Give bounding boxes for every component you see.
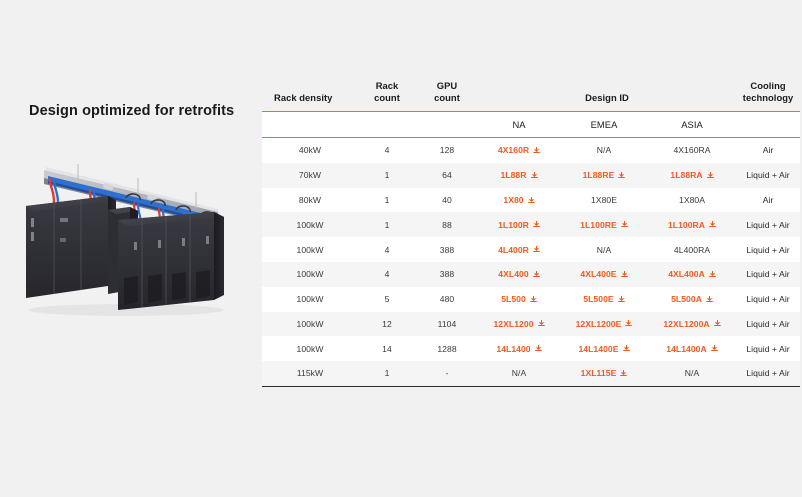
cell-design-id-asia: 14L1400A <box>648 336 736 361</box>
page-root: Design optimized for retrofits <box>0 0 802 497</box>
cell-rack-density: 115kW <box>262 361 358 386</box>
design-id-text: 12XL1200A <box>663 319 709 329</box>
cell-cooling-technology: Liquid + Air <box>736 212 800 237</box>
cell-design-id-na: N/A <box>478 361 560 386</box>
download-icon <box>621 271 628 278</box>
design-id-text: 4XL400 <box>498 269 528 279</box>
cell-design-id-asia: 4XL400A <box>648 262 736 287</box>
cell-design-id-asia: 1L100RA <box>648 212 736 237</box>
design-id-value-asia: N/A <box>685 368 699 378</box>
design-id-value-emea: N/A <box>597 145 611 155</box>
download-icon <box>530 296 537 303</box>
cell-design-id-asia: 5L500A <box>648 287 736 312</box>
cell-rack-count: 4 <box>358 138 416 163</box>
design-id-link-na[interactable]: 1L88R <box>500 170 537 180</box>
cell-gpu-count: 64 <box>416 163 478 188</box>
cell-design-id-na: 5L500 <box>478 287 560 312</box>
column-header-cooling-technology: Cooling technology <box>736 80 800 112</box>
cell-gpu-count: 1104 <box>416 312 478 337</box>
design-id-link-na[interactable]: 4X160R <box>498 145 540 155</box>
design-id-text: 4XL400A <box>668 269 705 279</box>
column-header-gpu-count: GPU count <box>416 80 478 112</box>
design-id-value-na: N/A <box>512 368 526 378</box>
rack-block-left <box>26 196 116 298</box>
design-id-text: 4L400R <box>498 245 529 255</box>
design-id-text: 4XL400E <box>580 269 616 279</box>
download-icon <box>709 221 716 228</box>
cell-design-id-emea: 1L100RE <box>560 212 648 237</box>
cell-rack-density: 80kW <box>262 188 358 213</box>
table-head: Rack density Rack count GPU count Design… <box>262 80 800 138</box>
design-id-link-asia[interactable]: 4XL400A <box>668 269 716 279</box>
download-icon <box>533 147 540 154</box>
cell-design-id-emea: 1XL115E <box>560 361 648 386</box>
table-row: 100kW43884XL4004XL400E4XL400ALiquid + Ai… <box>262 262 800 287</box>
cell-cooling-technology: Liquid + Air <box>736 287 800 312</box>
design-id-value-emea: N/A <box>597 245 611 255</box>
cell-design-id-emea: 12XL1200E <box>560 312 648 337</box>
cell-rack-density: 40kW <box>262 138 358 163</box>
cell-gpu-count: 480 <box>416 287 478 312</box>
cell-design-id-emea: N/A <box>560 237 648 262</box>
cell-design-id-emea: 1L88RE <box>560 163 648 188</box>
download-icon <box>618 296 625 303</box>
cell-rack-density: 100kW <box>262 312 358 337</box>
table-row: 40kW41284X160RN/A4X160RAAir <box>262 138 800 163</box>
rack-block-right <box>118 212 224 310</box>
cell-gpu-count: 388 <box>416 262 478 287</box>
cell-rack-count: 1 <box>358 361 416 386</box>
design-id-link-na[interactable]: 12XL1200 <box>493 319 544 329</box>
cell-design-id-asia: 4X160RA <box>648 138 736 163</box>
cell-design-id-asia: 1L88RA <box>648 163 736 188</box>
download-icon <box>711 345 718 352</box>
download-icon <box>623 345 630 352</box>
design-id-link-asia[interactable]: 14L1400A <box>666 344 718 354</box>
cell-rack-count: 1 <box>358 212 416 237</box>
region-blank-4 <box>736 112 800 138</box>
cell-cooling-technology: Air <box>736 138 800 163</box>
design-id-text: 12XL1200 <box>493 319 533 329</box>
cell-rack-count: 5 <box>358 287 416 312</box>
download-icon <box>620 370 627 377</box>
design-id-value-asia: 4L400RA <box>674 245 710 255</box>
cell-design-id-na: 4L400R <box>478 237 560 262</box>
region-header-na: NA <box>478 112 560 138</box>
cell-gpu-count: 1288 <box>416 336 478 361</box>
design-id-link-na[interactable]: 4L400R <box>498 245 540 255</box>
table-row: 115kW1-N/A1XL115EN/ALiquid + Air <box>262 361 800 386</box>
design-id-value-emea: 1X80E <box>591 195 617 205</box>
design-id-text: 1XL115E <box>581 368 617 378</box>
cell-rack-count: 1 <box>358 188 416 213</box>
download-icon <box>538 320 545 327</box>
cell-design-id-na: 4XL400 <box>478 262 560 287</box>
table-row: 70kW1641L88R1L88RE1L88RALiquid + Air <box>262 163 800 188</box>
design-id-text: 1L88R <box>500 170 526 180</box>
design-id-text: 1L100R <box>498 220 529 230</box>
design-spec-table: Rack density Rack count GPU count Design… <box>262 80 800 387</box>
region-header-emea: EMEA <box>560 112 648 138</box>
cell-rack-count: 12 <box>358 312 416 337</box>
design-id-value-asia: 1X80A <box>679 195 705 205</box>
table-row: 100kW54805L5005L500E5L500ALiquid + Air <box>262 287 800 312</box>
table-body: 40kW41284X160RN/A4X160RAAir70kW1641L88R1… <box>262 138 800 387</box>
design-id-link-emea[interactable]: 4XL400E <box>580 269 627 279</box>
cell-gpu-count: 40 <box>416 188 478 213</box>
cell-design-id-na: 1L100R <box>478 212 560 237</box>
design-id-link-emea[interactable]: 1L88RE <box>583 170 626 180</box>
cell-design-id-asia: 1X80A <box>648 188 736 213</box>
download-icon <box>707 172 714 179</box>
cell-cooling-technology: Liquid + Air <box>736 237 800 262</box>
design-id-link-na[interactable]: 5L500 <box>501 294 537 304</box>
design-id-text: 1L88RE <box>583 170 615 180</box>
gpu-count-line2: count <box>434 92 460 103</box>
cell-design-id-na: 1X80 <box>478 188 560 213</box>
download-icon <box>533 271 540 278</box>
design-id-link-na[interactable]: 14L1400 <box>496 344 541 354</box>
design-id-text: 14L1400 <box>496 344 530 354</box>
datacenter-rack-illustration <box>18 150 250 320</box>
download-icon <box>714 320 721 327</box>
cell-rack-density: 100kW <box>262 336 358 361</box>
cell-gpu-count: 388 <box>416 237 478 262</box>
download-icon <box>625 320 632 327</box>
cell-rack-density: 100kW <box>262 287 358 312</box>
design-id-link-asia[interactable]: 1L88RA <box>670 170 713 180</box>
cell-design-id-emea: N/A <box>560 138 648 163</box>
page-title: Design optimized for retrofits <box>29 103 234 119</box>
design-id-text: 14L1400A <box>666 344 707 354</box>
design-id-text: 5L500 <box>501 294 526 304</box>
cell-design-id-na: 14L1400 <box>478 336 560 361</box>
cell-gpu-count: - <box>416 361 478 386</box>
download-icon <box>533 221 540 228</box>
cell-design-id-emea: 14L1400E <box>560 336 648 361</box>
cell-design-id-asia: 4L400RA <box>648 237 736 262</box>
cell-cooling-technology: Liquid + Air <box>736 163 800 188</box>
design-id-text: 12XL1200E <box>576 319 622 329</box>
header-row-main: Rack density Rack count GPU count Design… <box>262 80 800 112</box>
design-id-text: 1L100RA <box>668 220 705 230</box>
table-row: 100kW43884L400RN/A4L400RALiquid + Air <box>262 237 800 262</box>
region-blank-3 <box>416 112 478 138</box>
cell-rack-count: 4 <box>358 262 416 287</box>
design-id-link-emea[interactable]: 5L500E <box>583 294 624 304</box>
design-id-link-emea[interactable]: 1XL115E <box>581 368 628 378</box>
design-id-text: 1L88RA <box>670 170 702 180</box>
cell-cooling-technology: Liquid + Air <box>736 361 800 386</box>
design-id-link-emea[interactable]: 1L100RE <box>580 220 628 230</box>
cell-cooling-technology: Air <box>736 188 800 213</box>
cell-cooling-technology: Liquid + Air <box>736 262 800 287</box>
cell-design-id-asia: N/A <box>648 361 736 386</box>
cell-design-id-emea: 4XL400E <box>560 262 648 287</box>
region-blank-1 <box>262 112 358 138</box>
design-id-link-emea[interactable]: 12XL1200E <box>576 319 633 329</box>
design-id-link-asia[interactable]: 12XL1200A <box>663 319 720 329</box>
column-header-design-id: Design ID <box>478 80 736 112</box>
cell-rack-count: 4 <box>358 237 416 262</box>
design-id-link-na[interactable]: 1X80 <box>503 195 534 205</box>
gpu-count-line1: GPU <box>437 80 457 91</box>
design-id-text: 4X160R <box>498 145 529 155</box>
download-icon <box>535 345 542 352</box>
cell-rack-density: 70kW <box>262 163 358 188</box>
cooling-line2: technology <box>743 92 794 103</box>
table-row: 100kW14128814L140014L1400E14L1400ALiquid… <box>262 336 800 361</box>
left-panel: Design optimized for retrofits <box>0 0 258 497</box>
design-id-link-na[interactable]: 4XL400 <box>498 269 539 279</box>
design-id-text: 1X80 <box>503 195 523 205</box>
cell-rack-density: 100kW <box>262 237 358 262</box>
download-icon <box>618 172 625 179</box>
header-row-regions: NA EMEA ASIA <box>262 112 800 138</box>
cell-rack-density: 100kW <box>262 212 358 237</box>
cell-gpu-count: 128 <box>416 138 478 163</box>
cell-rack-density: 100kW <box>262 262 358 287</box>
design-id-link-na[interactable]: 1L100R <box>498 220 540 230</box>
design-id-link-emea[interactable]: 14L1400E <box>578 344 629 354</box>
cell-design-id-na: 4X160R <box>478 138 560 163</box>
download-icon <box>709 271 716 278</box>
design-id-text: 1L100RE <box>580 220 617 230</box>
cell-design-id-na: 12XL1200 <box>478 312 560 337</box>
cooling-line1: Cooling <box>750 80 785 91</box>
design-id-text: 5L500A <box>671 294 702 304</box>
cell-cooling-technology: Liquid + Air <box>736 336 800 361</box>
design-id-text: 14L1400E <box>578 344 618 354</box>
download-icon <box>531 172 538 179</box>
download-icon <box>621 221 628 228</box>
column-header-rack-density: Rack density <box>262 80 358 112</box>
cell-design-id-emea: 1X80E <box>560 188 648 213</box>
rack-count-line2: count <box>374 92 400 103</box>
download-icon <box>528 197 535 204</box>
table-row: 80kW1401X801X80E1X80AAir <box>262 188 800 213</box>
cell-rack-count: 14 <box>358 336 416 361</box>
design-id-value-asia: 4X160RA <box>673 145 710 155</box>
cell-gpu-count: 88 <box>416 212 478 237</box>
region-blank-2 <box>358 112 416 138</box>
download-icon <box>706 296 713 303</box>
design-id-link-asia[interactable]: 1L100RA <box>668 220 716 230</box>
rack-count-line1: Rack <box>376 80 399 91</box>
column-header-rack-count: Rack count <box>358 80 416 112</box>
table-row: 100kW12110412XL120012XL1200E12XL1200ALiq… <box>262 312 800 337</box>
cell-design-id-na: 1L88R <box>478 163 560 188</box>
download-icon <box>533 246 540 253</box>
design-id-text: 5L500E <box>583 294 613 304</box>
cell-design-id-emea: 5L500E <box>560 287 648 312</box>
cell-design-id-asia: 12XL1200A <box>648 312 736 337</box>
cell-rack-count: 1 <box>358 163 416 188</box>
table-row: 100kW1881L100R1L100RE1L100RALiquid + Air <box>262 212 800 237</box>
cell-cooling-technology: Liquid + Air <box>736 312 800 337</box>
region-header-asia: ASIA <box>648 112 736 138</box>
spec-table-container: Rack density Rack count GPU count Design… <box>262 80 800 387</box>
design-id-link-asia[interactable]: 5L500A <box>671 294 713 304</box>
